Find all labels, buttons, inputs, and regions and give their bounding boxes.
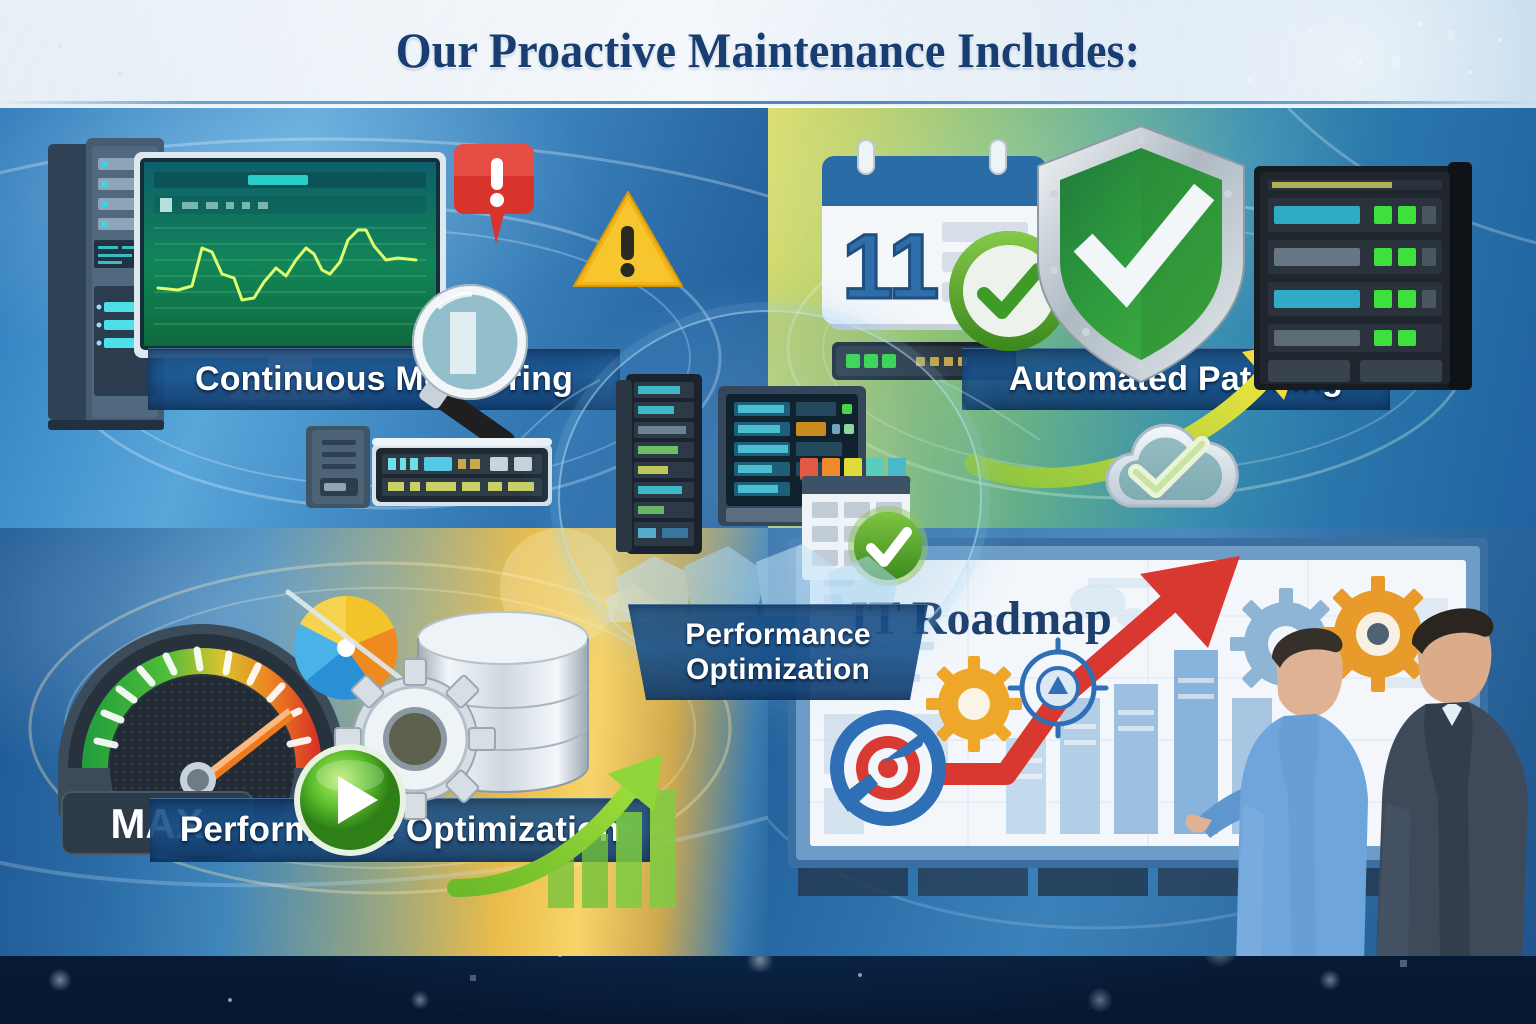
caption-center-performance-optimization: Performance Optimization <box>628 604 928 700</box>
target-icon <box>830 710 946 826</box>
server-rack-unit-icon <box>300 418 560 522</box>
calendar-day-number: 11 <box>842 216 939 318</box>
person-icon <box>1356 604 1536 956</box>
warning-triangle-icon <box>568 186 688 294</box>
play-button-icon <box>290 740 410 860</box>
header-divider <box>0 101 1536 104</box>
server-rack-icon <box>616 374 702 554</box>
line-chart-icon <box>144 162 436 346</box>
alert-badge-icon <box>452 138 544 250</box>
header-divider-highlight <box>0 106 1536 108</box>
caption-line-1: Performance <box>685 617 871 652</box>
hub-illustration <box>606 366 946 626</box>
header-bar: Our Proactive Maintenance Includes: <box>0 0 1536 108</box>
shield-check-icon <box>1026 120 1256 390</box>
cloud-check-icon <box>1090 418 1260 528</box>
page-title: Our Proactive Maintenance Includes: <box>61 0 1474 100</box>
server-tower-icon <box>306 426 370 508</box>
infographic-canvas: 11 <box>0 0 1536 1024</box>
server-rack-icon <box>1248 158 1478 398</box>
caption-line-2: Optimization <box>686 652 870 687</box>
rack-unit-icon <box>372 438 552 506</box>
